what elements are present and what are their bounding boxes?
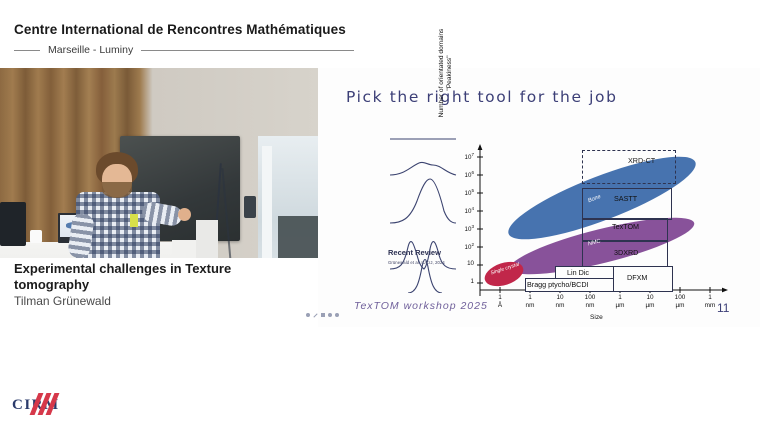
control-circle2-icon[interactable] (335, 313, 339, 317)
technique-label-bragg-ptycho: Bragg ptycho/BCDI (527, 280, 589, 289)
recent-review-caption: Recent Review (388, 248, 441, 257)
control-circle-icon[interactable] (328, 313, 332, 317)
technique-map-chart: Number of orientated domains "Peakiness"… (442, 118, 742, 303)
speaker-hand (178, 208, 191, 221)
slide-title: Pick the right tool for the job (346, 88, 618, 106)
x-axis-label: Size (590, 314, 603, 321)
x-tick-5: 10µm (639, 294, 661, 310)
technique-box-sastt (582, 188, 672, 220)
slide-controls[interactable] (306, 313, 339, 317)
control-pen-icon[interactable] (313, 313, 317, 317)
speaker-video[interactable] (0, 68, 318, 258)
institution-title: Centre International de Rencontres Mathé… (14, 22, 346, 37)
recent-review-citation: Grünewald et al. IUCrJ, 2024 (388, 260, 445, 265)
window-frame (262, 146, 272, 258)
location-label: Marseille - Luminy (48, 44, 133, 56)
pedestal-secondary (196, 220, 218, 258)
slide-footer-text: TexTOM workshop 2025 (354, 300, 488, 312)
speaker-beard (102, 182, 132, 198)
rule-left (14, 50, 40, 51)
location-line: Marseille - Luminy (14, 44, 354, 56)
technique-label-dfxm: DFXM (627, 273, 647, 282)
talk-caption: Experimental challenges in Texture tomog… (0, 258, 318, 318)
x-tick-6: 100µm (669, 294, 691, 310)
cirm-header: Centre International de Rencontres Mathé… (0, 0, 760, 68)
y-axis-label: Number of orientated domains "Peakiness" (438, 18, 454, 128)
x-tick-1: 1nm (519, 294, 541, 310)
control-grid-icon[interactable] (321, 313, 325, 317)
technique-label-textom: TexTOM (612, 222, 639, 231)
talk-author: Tilman Grünewald (14, 294, 111, 308)
technique-label-sastt: SASTT (614, 194, 637, 203)
control-gear-icon[interactable] (306, 313, 310, 317)
x-tick-3: 100nm (579, 294, 601, 310)
technique-label-xrd-ct: XRD-CT (628, 156, 655, 165)
slide-panel[interactable]: Pick the right tool for the job Recent R… (318, 68, 760, 327)
technique-label-lin-dic: Lin Dic (567, 268, 589, 277)
wall-box (244, 196, 256, 218)
x-tick-0: 1Å (489, 294, 511, 310)
monitor (0, 202, 26, 246)
coffee-cup (30, 230, 42, 243)
x-tick-2: 10nm (549, 294, 571, 310)
talk-title: Experimental challenges in Texture tomog… (14, 261, 264, 293)
technique-label-3dxrd: 3DXRD (614, 248, 638, 257)
slide-page-number: 11 (717, 301, 729, 315)
speaker (68, 152, 168, 258)
speaker-badge (130, 214, 138, 227)
rule-right (141, 50, 354, 51)
window-dark-panel (278, 216, 318, 258)
x-tick-4: 1µm (609, 294, 631, 310)
screen: Centre International de Rencontres Mathé… (0, 0, 760, 427)
cirm-logo: CIRM (12, 393, 82, 417)
cirm-logo-slashes-icon (34, 393, 60, 415)
